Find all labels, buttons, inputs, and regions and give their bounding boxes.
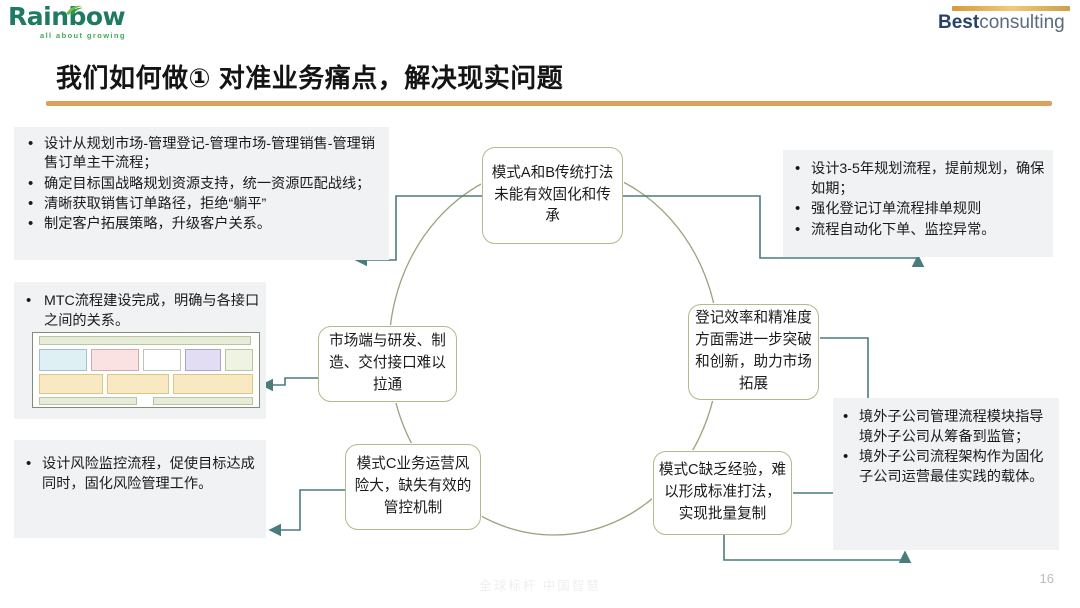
slide-canvas: Rainbow all about growing Bestconsulting… <box>0 0 1080 608</box>
best-consulting-logo: Bestconsulting <box>938 6 1070 32</box>
callout-bottom-left: 设计风险监控流程，促使目标达成同时，固化风险管理工作。 <box>14 440 266 538</box>
callout-top-left-list: 设计从规划市场-管理登记-管理市场-管理销售-管理销售订单主干流程； 确定目标国… <box>22 135 383 235</box>
list-item: MTC流程建设完成，明确与各接口之间的关系。 <box>20 291 260 331</box>
callout-bottom-right: 境外子公司管理流程模块指导境外子公司从筹备到监管； 境外子公司流程架构作为固化子… <box>833 398 1059 550</box>
cycle-node-top: 模式A和B传统打法未能有效固化和传承 <box>482 147 623 244</box>
arrow-right-to-bottomright <box>820 338 868 398</box>
list-item: 确定目标国战略规划资源支持，统一资源匹配战线； <box>22 175 383 194</box>
list-item: 清晰获取销售订单路径，拒绝“躺平” <box>22 195 383 214</box>
callout-bottom-right-list: 境外子公司管理流程模块指导境外子公司从筹备到监管； 境外子公司流程架构作为固化子… <box>837 408 1053 487</box>
page-number: 16 <box>1040 571 1054 586</box>
logo-consulting-text: consulting <box>979 12 1065 33</box>
list-item: 设计3-5年规划流程，提前规划，确保如期； <box>789 160 1045 199</box>
mtc-process-thumbnail <box>32 332 260 408</box>
list-item: 设计风险监控流程，促使目标达成同时，固化风险管理工作。 <box>20 454 260 494</box>
list-item: 境外子公司管理流程模块指导境外子公司从筹备到监管； <box>837 408 1053 447</box>
callout-middle-left-list: MTC流程建设完成，明确与各接口之间的关系。 <box>20 291 260 331</box>
rainbow-logo: Rainbow all about growing <box>8 4 148 42</box>
cycle-node-bottom-left-label: 模式C业务运营风险大，缺失有效的管控机制 <box>350 454 476 520</box>
logo-gold-bar <box>952 6 1070 11</box>
arrow-left-to-midleft <box>262 378 318 385</box>
title-divider <box>46 101 1052 106</box>
arrow-bottomleft-to-box <box>270 490 345 530</box>
cycle-node-top-label: 模式A和B传统打法未能有效固化和传承 <box>487 163 618 229</box>
leaf-icon <box>64 5 84 16</box>
footer-slogan: 全球标杆 中国智慧 <box>0 575 1080 594</box>
cycle-node-bottom-left: 模式C业务运营风险大，缺失有效的管控机制 <box>345 444 481 530</box>
list-item: 流程自动化下单、监控异常。 <box>789 221 1045 241</box>
rainbow-logo-tagline: all about growing <box>40 31 148 40</box>
best-consulting-wordmark: Bestconsulting <box>938 13 1070 32</box>
cycle-node-bottom-right-label: 模式C缺乏经验，难以形成标准打法，实现批量复制 <box>658 460 787 526</box>
cycle-node-right: 登记效率和精准度方面需进一步突破和创新，助力市场拓展 <box>688 304 819 400</box>
logo-best-text: Best <box>938 12 979 33</box>
cycle-node-left-label: 市场端与研发、制造、交付接口难以拉通 <box>323 331 452 397</box>
list-item: 设计从规划市场-管理登记-管理市场-管理销售-管理销售订单主干流程； <box>22 135 383 174</box>
list-item: 制定客户拓展策略，升级客户关系。 <box>22 215 383 234</box>
callout-top-right-list: 设计3-5年规划流程，提前规划，确保如期； 强化登记订单流程排单规则 流程自动化… <box>789 160 1045 240</box>
callout-bottom-left-list: 设计风险监控流程，促使目标达成同时，固化风险管理工作。 <box>20 454 260 494</box>
page-title: 我们如何做① 对准业务痛点，解决现实问题 <box>56 58 563 95</box>
callout-top-right: 设计3-5年规划流程，提前规划，确保如期； 强化登记订单流程排单规则 流程自动化… <box>783 150 1053 257</box>
cycle-node-bottom-right: 模式C缺乏经验，难以形成标准打法，实现批量复制 <box>653 451 792 535</box>
cycle-node-right-label: 登记效率和精准度方面需进一步突破和创新，助力市场拓展 <box>693 308 814 396</box>
list-item: 强化登记订单流程排单规则 <box>789 200 1045 220</box>
cycle-node-left: 市场端与研发、制造、交付接口难以拉通 <box>318 326 457 402</box>
list-item: 境外子公司流程架构作为固化子公司运营最佳实践的载体。 <box>837 448 1053 487</box>
callout-top-left: 设计从规划市场-管理登记-管理市场-管理销售-管理销售订单主干流程； 确定目标国… <box>14 127 389 260</box>
